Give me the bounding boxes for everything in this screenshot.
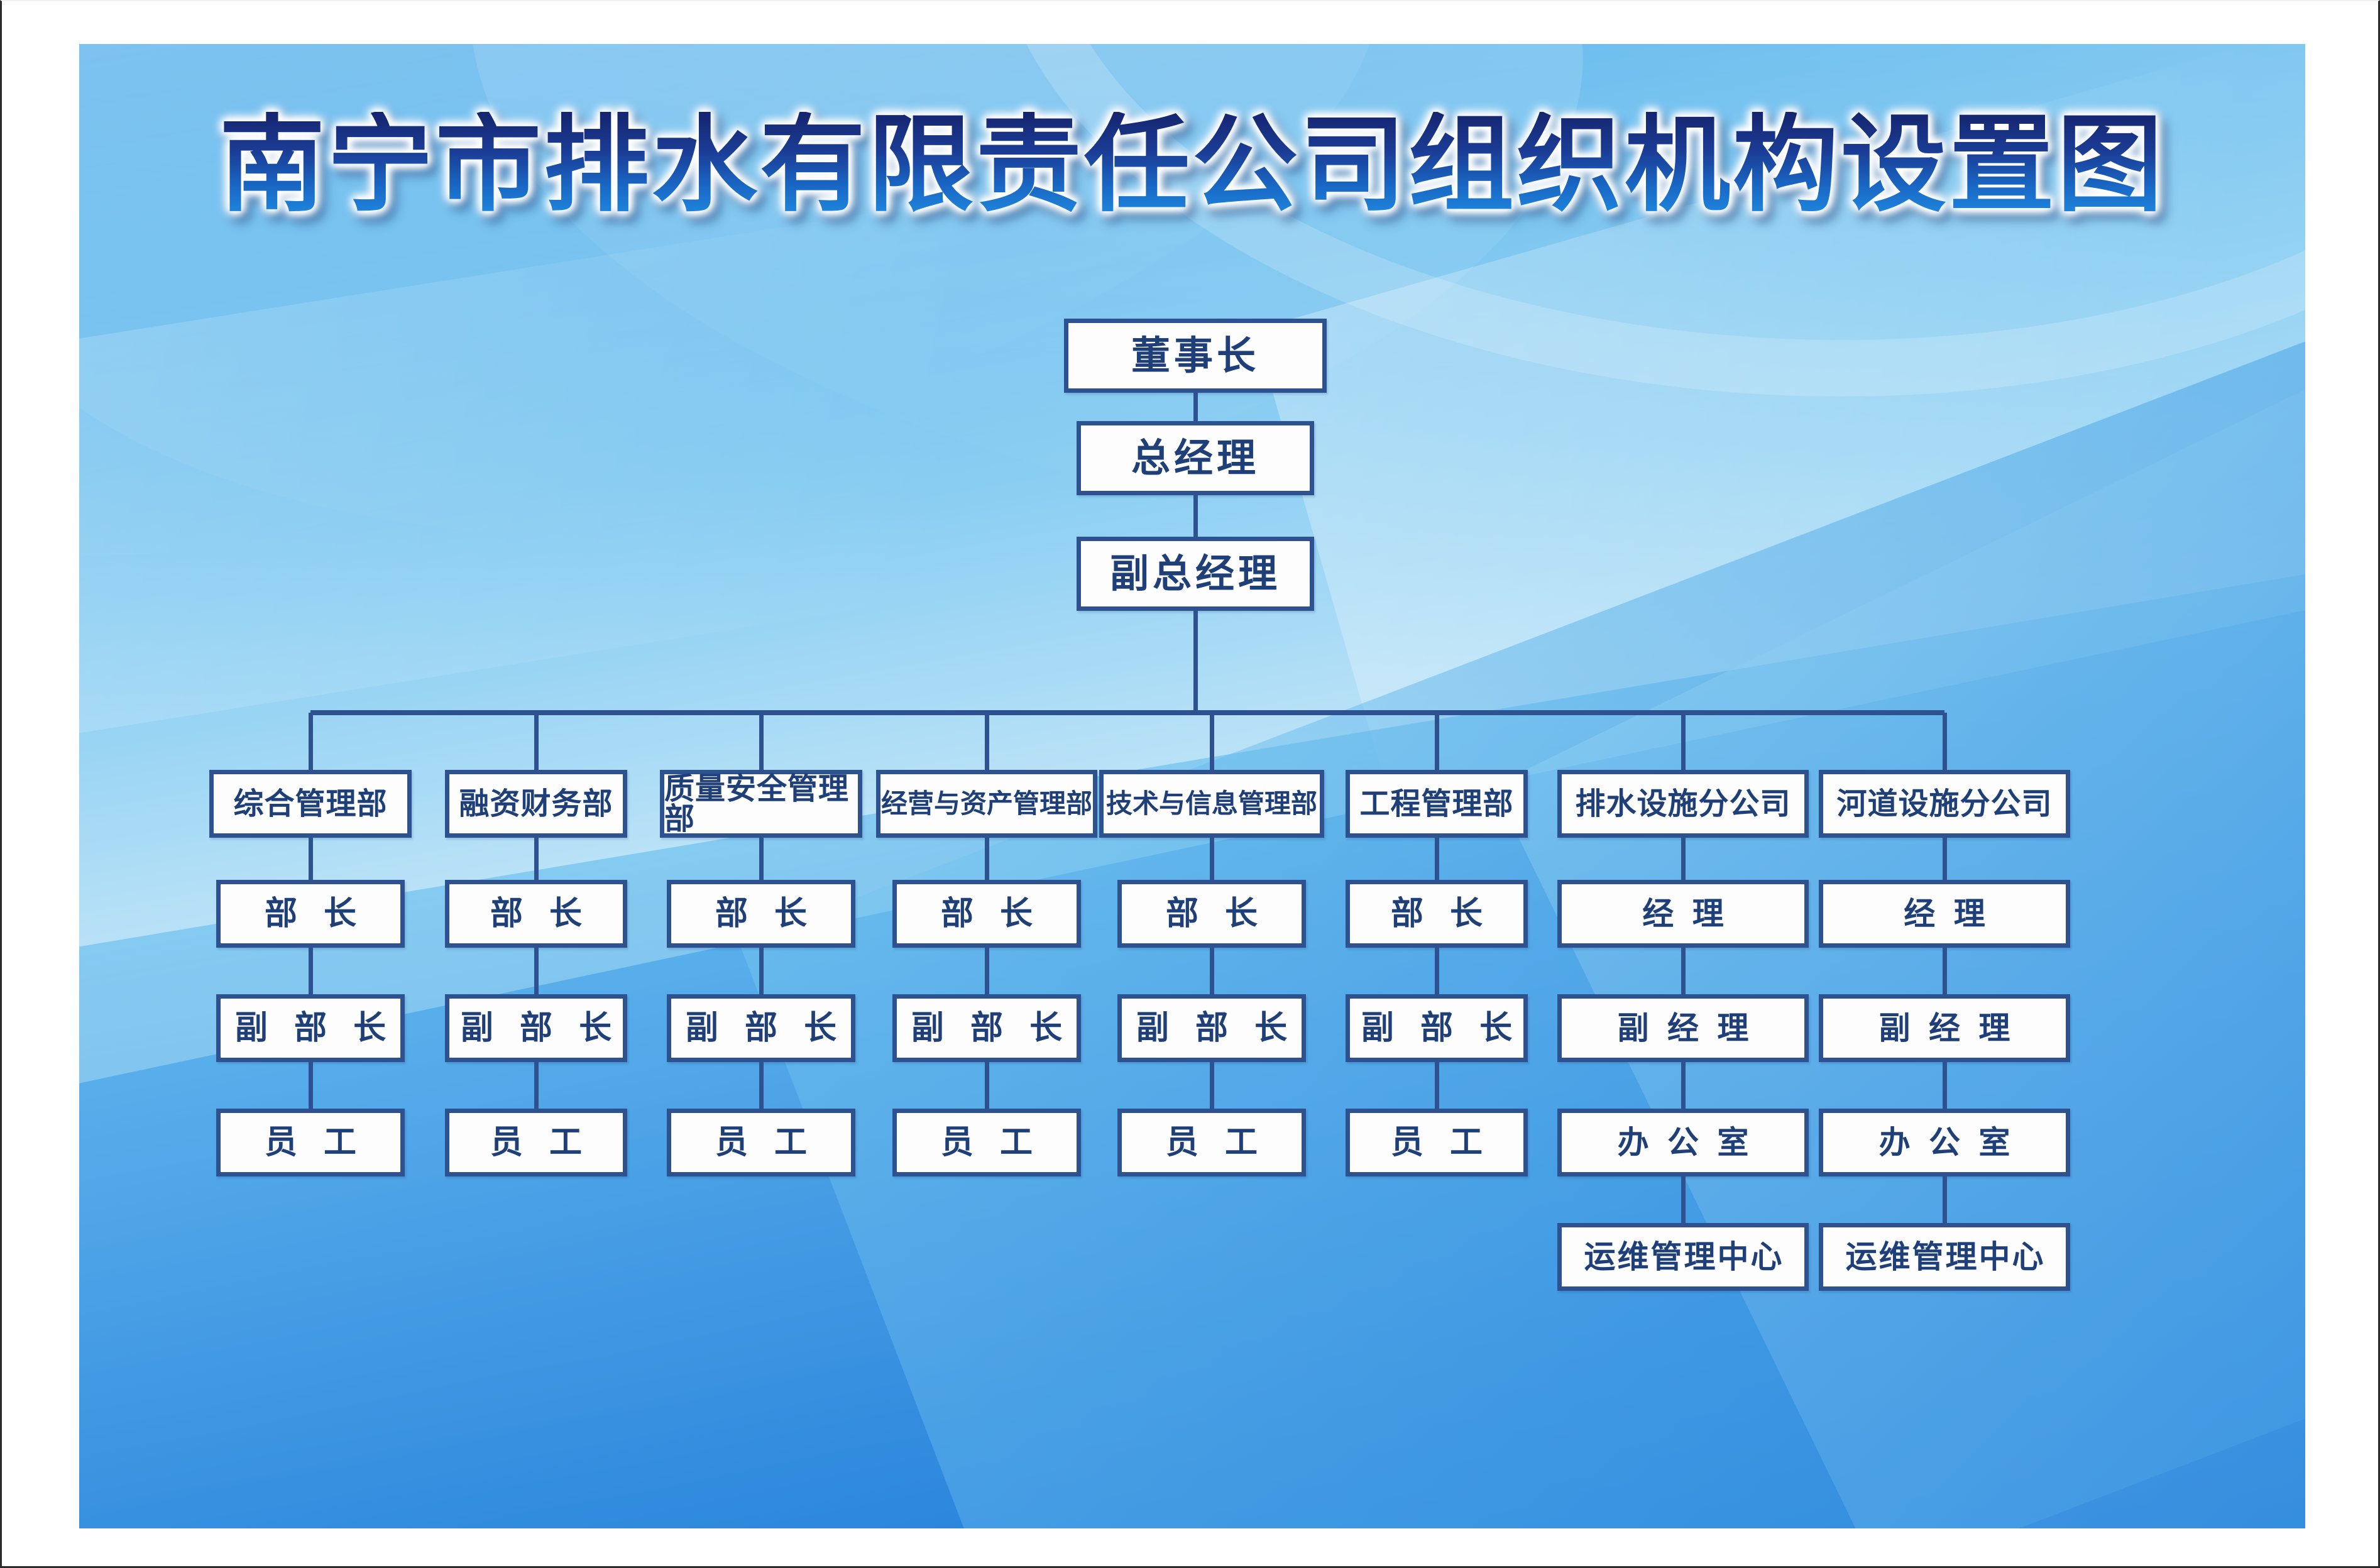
edge-col6-2 xyxy=(1435,1062,1439,1109)
edge-col1-1 xyxy=(309,948,313,994)
edge-deputy-to-bus xyxy=(1193,611,1198,713)
role-box-col8-0: 经 理 xyxy=(1819,880,2070,948)
edge-bus-to-unit-3 xyxy=(985,713,989,770)
edge-bus-to-unit-5 xyxy=(1435,713,1439,770)
edge-bus-to-unit-4 xyxy=(1210,713,1214,770)
role-box-col8-2: 办 公 室 xyxy=(1819,1109,2070,1176)
edge-col6-1 xyxy=(1435,948,1439,994)
role-box-col1-2: 员 工 xyxy=(216,1109,405,1176)
unit-box-col4: 经营与资产管理部 xyxy=(876,770,1097,838)
edge-col6-0 xyxy=(1435,838,1439,880)
edge-col7-0 xyxy=(1681,838,1686,880)
exec-node-deputy_gm: 副总经理 xyxy=(1077,537,1314,611)
edge-col5-1 xyxy=(1210,948,1214,994)
unit-box-col6: 工程管理部 xyxy=(1346,770,1528,838)
edge-exec-1 xyxy=(1193,495,1198,537)
role-box-col8-3: 运维管理中心 xyxy=(1819,1223,2070,1291)
role-box-col4-1: 副 部 长 xyxy=(892,994,1081,1062)
role-box-col2-1: 副 部 长 xyxy=(445,994,627,1062)
role-box-col2-0: 部 长 xyxy=(445,880,627,948)
edge-col8-0 xyxy=(1943,838,1947,880)
edge-bus-to-unit-6 xyxy=(1681,713,1686,770)
edge-bus-to-unit-7 xyxy=(1943,713,1947,770)
unit-box-col3: 质量安全管理部 xyxy=(660,770,862,838)
edge-bus-to-unit-2 xyxy=(759,713,764,770)
role-box-col5-2: 员 工 xyxy=(1117,1109,1306,1176)
org-chart: 董事长总经理副总经理综合管理部部 长副 部 长员 工融资财务部部 长副 部 长员… xyxy=(79,44,2305,1528)
edge-col5-2 xyxy=(1210,1062,1214,1109)
edge-col7-3 xyxy=(1681,1176,1686,1223)
edge-col8-2 xyxy=(1943,1062,1947,1109)
edge-col3-2 xyxy=(759,1062,764,1109)
edge-col7-2 xyxy=(1681,1062,1686,1109)
unit-box-col8: 河道设施分公司 xyxy=(1819,770,2070,838)
role-box-col4-0: 部 长 xyxy=(892,880,1081,948)
role-box-col7-1: 副 经 理 xyxy=(1557,994,1809,1062)
bus-bar xyxy=(310,710,1944,715)
edge-col4-1 xyxy=(985,948,989,994)
role-box-col7-2: 办 公 室 xyxy=(1557,1109,1809,1176)
edge-col1-0 xyxy=(309,838,313,880)
unit-box-col2: 融资财务部 xyxy=(445,770,627,838)
edge-col3-1 xyxy=(759,948,764,994)
role-box-col5-0: 部 长 xyxy=(1117,880,1306,948)
role-box-col4-2: 员 工 xyxy=(892,1109,1081,1176)
role-box-col1-0: 部 长 xyxy=(216,880,405,948)
edge-exec-0 xyxy=(1193,393,1198,421)
role-box-col7-3: 运维管理中心 xyxy=(1557,1223,1809,1291)
poster-canvas: 南宁市排水有限责任公司组织机构设置图 董事长总经理副总经理综合管理部部 长副 部… xyxy=(79,44,2305,1528)
edge-col8-1 xyxy=(1943,948,1947,994)
edge-col1-2 xyxy=(309,1062,313,1109)
edge-col2-0 xyxy=(534,838,539,880)
edge-bus-to-unit-0 xyxy=(309,713,313,770)
edge-col3-0 xyxy=(759,838,764,880)
exec-node-gm: 总经理 xyxy=(1077,421,1314,495)
role-box-col6-1: 副 部 长 xyxy=(1346,994,1528,1062)
edge-col7-1 xyxy=(1681,948,1686,994)
edge-col2-1 xyxy=(534,948,539,994)
unit-box-col7: 排水设施分公司 xyxy=(1557,770,1809,838)
role-box-col3-1: 副 部 长 xyxy=(667,994,855,1062)
edge-col2-2 xyxy=(534,1062,539,1109)
edge-col4-0 xyxy=(985,838,989,880)
unit-box-col5: 技术与信息管理部 xyxy=(1099,770,1324,838)
exec-node-chairman: 董事长 xyxy=(1064,319,1327,393)
role-box-col7-0: 经 理 xyxy=(1557,880,1809,948)
role-box-col3-0: 部 长 xyxy=(667,880,855,948)
edge-col5-0 xyxy=(1210,838,1214,880)
role-box-col6-0: 部 长 xyxy=(1346,880,1528,948)
role-box-col2-2: 员 工 xyxy=(445,1109,627,1176)
poster-page: 南宁市排水有限责任公司组织机构设置图 董事长总经理副总经理综合管理部部 长副 部… xyxy=(0,0,2380,1568)
edge-col4-2 xyxy=(985,1062,989,1109)
role-box-col3-2: 员 工 xyxy=(667,1109,855,1176)
role-box-col8-1: 副 经 理 xyxy=(1819,994,2070,1062)
role-box-col1-1: 副 部 长 xyxy=(216,994,405,1062)
edge-bus-to-unit-1 xyxy=(534,713,539,770)
role-box-col5-1: 副 部 长 xyxy=(1117,994,1306,1062)
role-box-col6-2: 员 工 xyxy=(1346,1109,1528,1176)
unit-box-col1: 综合管理部 xyxy=(209,770,412,838)
edge-col8-3 xyxy=(1943,1176,1947,1223)
